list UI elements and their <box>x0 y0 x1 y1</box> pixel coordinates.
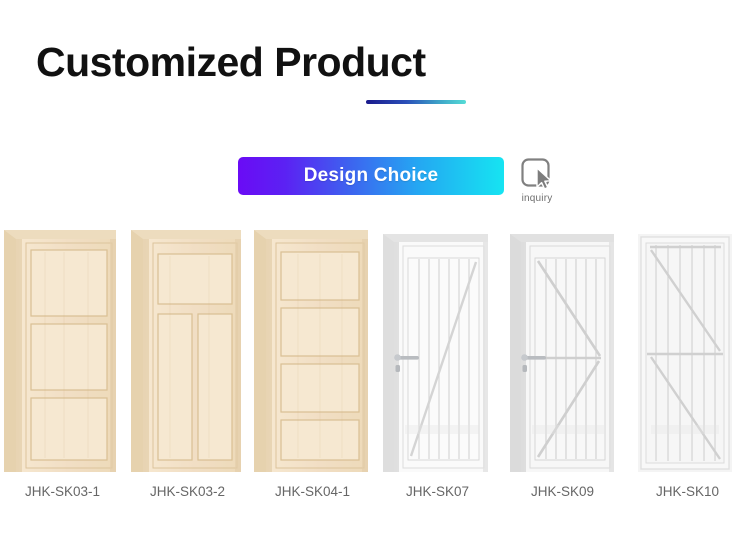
watermark <box>532 425 604 434</box>
product-card-jhk-sk03-2[interactable] <box>125 228 250 474</box>
product-code-4: JHK-SK07 <box>375 484 500 499</box>
door-gallery <box>0 228 750 474</box>
watermark <box>651 425 719 434</box>
door-image-jhk-sk03-1 <box>0 228 125 474</box>
product-card-jhk-sk07[interactable] <box>375 228 500 474</box>
door-image-jhk-sk04-1 <box>250 228 375 474</box>
door-image-jhk-sk10 <box>625 228 750 474</box>
inquiry-button[interactable]: inquiry <box>514 157 560 204</box>
product-card-jhk-sk04-1[interactable] <box>250 228 375 474</box>
product-card-jhk-sk10[interactable] <box>625 228 750 474</box>
product-card-jhk-sk09[interactable] <box>500 228 625 474</box>
action-row: Design Choice inquiry <box>238 157 560 204</box>
door-image-jhk-sk09 <box>500 228 625 474</box>
product-code-5: JHK-SK09 <box>500 484 625 499</box>
cursor-in-box-icon <box>520 157 554 191</box>
watermark <box>405 425 479 434</box>
inquiry-label: inquiry <box>522 193 553 204</box>
design-choice-button[interactable]: Design Choice <box>238 157 504 195</box>
product-card-jhk-sk03-1[interactable] <box>0 228 125 474</box>
product-code-1: JHK-SK03-1 <box>0 484 125 499</box>
page-title: Customized Product <box>36 40 426 85</box>
product-code-3: JHK-SK04-1 <box>250 484 375 499</box>
product-code-6: JHK-SK10 <box>625 484 750 499</box>
product-showcase-page: Customized Product Design Choice inquiry <box>0 0 750 533</box>
door-image-jhk-sk03-2 <box>125 228 250 474</box>
product-caption-row: JHK-SK03-1 JHK-SK03-2 JHK-SK04-1 JHK-SK0… <box>0 484 750 499</box>
title-underline-accent <box>366 100 466 104</box>
product-code-2: JHK-SK03-2 <box>125 484 250 499</box>
door-image-jhk-sk07 <box>375 228 500 474</box>
